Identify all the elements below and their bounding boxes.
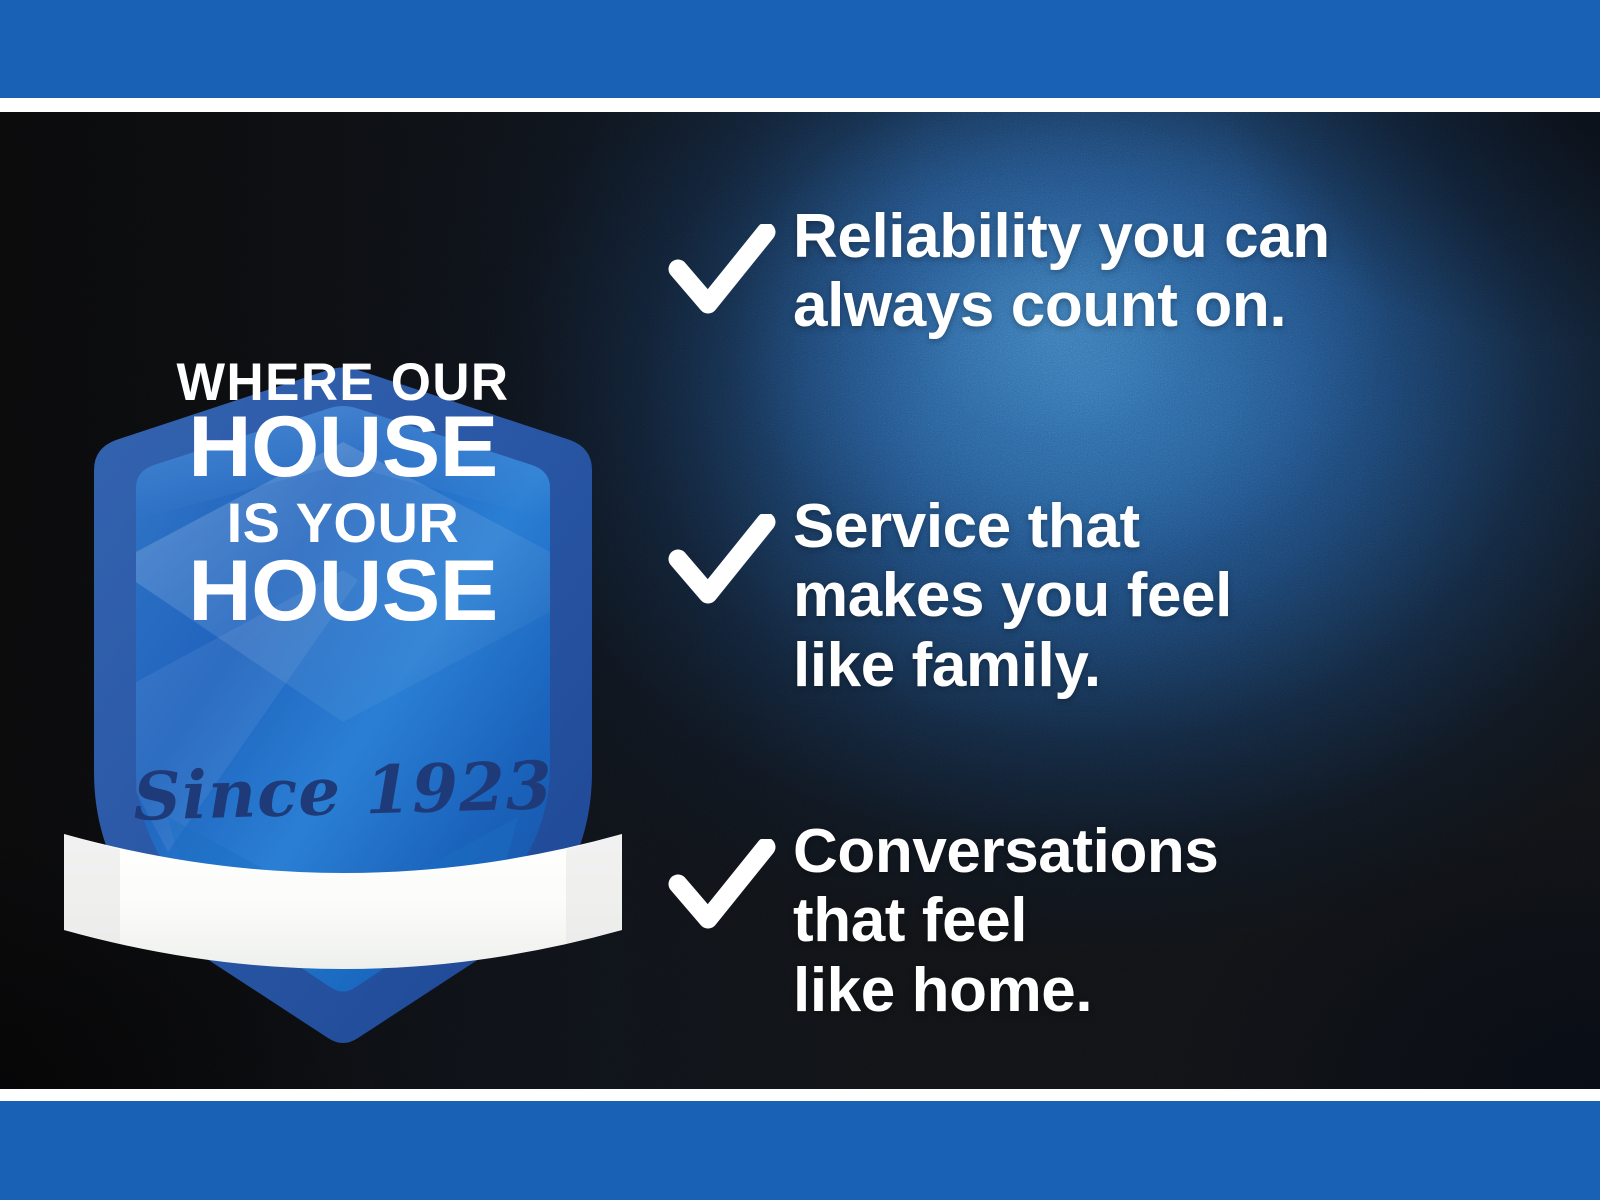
bullet-3-line-1: Conversations: [793, 817, 1218, 886]
bullet-2-line-3: like family.: [793, 631, 1232, 700]
list-item: Conversations that feel like home.: [668, 817, 1218, 1025]
ribbon-shade-right: [566, 834, 622, 944]
bullet-3-line-2: that feel: [793, 886, 1218, 955]
top-brand-bar: [0, 0, 1600, 98]
promo-graphic: Where our House is your House Since 1923…: [0, 0, 1600, 1200]
bullet-1-line-2: always count on.: [793, 271, 1330, 340]
top-divider: [0, 98, 1600, 112]
checkmark-icon: [668, 202, 793, 318]
checkmark-icon: [668, 817, 793, 933]
checkmark-icon: [668, 492, 793, 608]
list-item-text: Conversations that feel like home.: [793, 817, 1218, 1025]
bullet-3-line-3: like home.: [793, 956, 1218, 1025]
main-stage: Where our House is your House Since 1923…: [0, 112, 1600, 1089]
bottom-divider: [0, 1089, 1600, 1101]
bullet-2-line-1: Service that: [793, 492, 1232, 561]
list-item: Reliability you can always count on.: [668, 202, 1330, 341]
bottom-brand-bar: [0, 1101, 1600, 1200]
ribbon-shade-left: [64, 834, 120, 944]
list-item-text: Service that makes you feel like family.: [793, 492, 1232, 700]
bullet-2-line-2: makes you feel: [793, 561, 1232, 630]
list-item: Service that makes you feel like family.: [668, 492, 1232, 700]
company-badge: Where our House is your House Since 1923: [58, 252, 628, 1052]
bullet-1-line-1: Reliability you can: [793, 202, 1330, 271]
list-item-text: Reliability you can always count on.: [793, 202, 1330, 341]
